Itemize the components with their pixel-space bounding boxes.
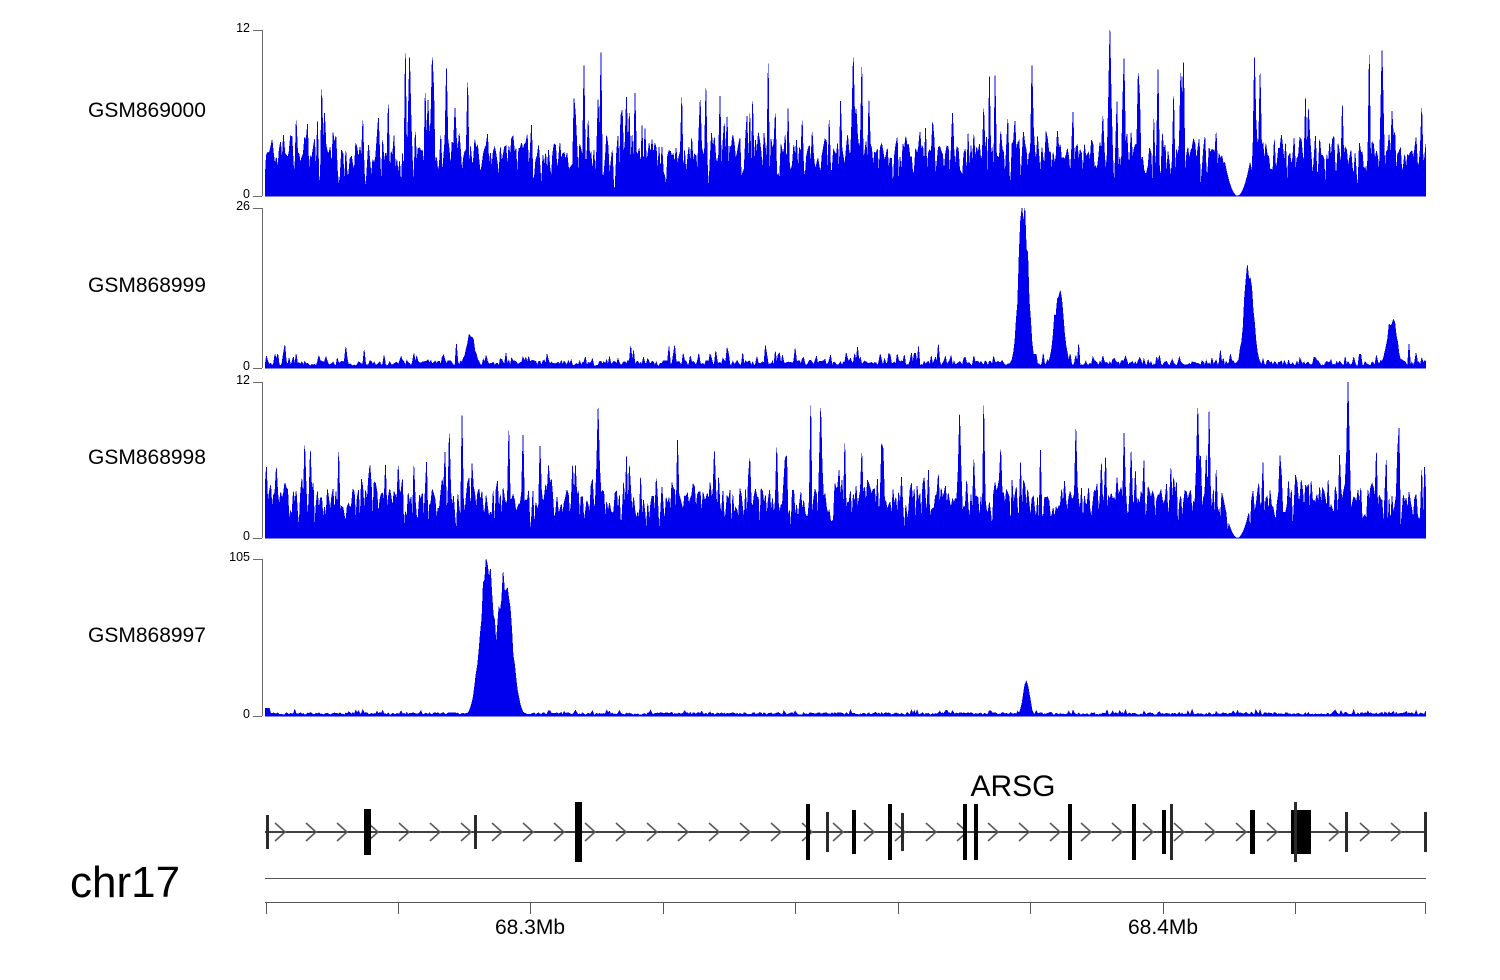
ruler-label: 68.3Mb bbox=[495, 916, 565, 940]
y-axis-tick-min bbox=[253, 368, 262, 369]
y-axis-tick-min bbox=[253, 716, 262, 717]
track-label-gsm869000: GSM869000 bbox=[88, 99, 206, 123]
ruler-tick bbox=[1030, 902, 1031, 914]
y-axis-max-label: 12 bbox=[195, 373, 250, 387]
y-axis-max-label: 12 bbox=[195, 21, 250, 35]
ruler-tick bbox=[795, 902, 796, 914]
ruler-tick bbox=[398, 902, 399, 914]
y-axis-line bbox=[262, 30, 263, 196]
y-axis-line bbox=[262, 559, 263, 716]
gene-model-svg bbox=[0, 770, 1500, 880]
y-axis-max-label: 105 bbox=[195, 550, 250, 564]
y-axis-tick-max bbox=[253, 559, 262, 560]
coverage-track: GSM869000120 bbox=[0, 30, 1500, 196]
ruler-tick bbox=[663, 902, 664, 914]
y-axis-line bbox=[262, 382, 263, 538]
gene-model-track: ARSG bbox=[0, 770, 1500, 880]
coverage-plot-area[interactable] bbox=[265, 30, 1426, 197]
coverage-track: GSM868998120 bbox=[0, 382, 1500, 538]
coverage-plot-area[interactable] bbox=[265, 559, 1426, 717]
ruler-tick bbox=[1425, 902, 1426, 914]
ruler-baseline bbox=[265, 878, 1426, 879]
y-axis-tick-min bbox=[253, 196, 262, 197]
coverage-track: GSM868999260 bbox=[0, 208, 1500, 368]
y-axis-tick-min bbox=[253, 538, 262, 539]
y-axis-min-label: 0 bbox=[195, 707, 250, 721]
y-axis-line bbox=[262, 208, 263, 368]
coverage-plot-area[interactable] bbox=[265, 208, 1426, 369]
y-axis-min-label: 0 bbox=[195, 529, 250, 543]
ruler-tick-axis bbox=[265, 902, 1426, 903]
y-axis-tick-max bbox=[253, 208, 262, 209]
y-axis-tick-max bbox=[253, 382, 262, 383]
y-axis-min-label: 0 bbox=[195, 359, 250, 373]
track-label-gsm868997: GSM868997 bbox=[88, 624, 206, 648]
track-label-gsm868999: GSM868999 bbox=[88, 274, 206, 298]
y-axis-tick-max bbox=[253, 30, 262, 31]
coverage-plot-area[interactable] bbox=[265, 382, 1426, 539]
ruler-tick bbox=[266, 902, 267, 914]
ruler-tick bbox=[898, 902, 899, 914]
ruler-tick bbox=[530, 902, 531, 914]
y-axis-max-label: 26 bbox=[195, 199, 250, 213]
track-label-gsm868998: GSM868998 bbox=[88, 446, 206, 470]
coordinate-ruler: 68.3Mb68.4Mb bbox=[0, 878, 1500, 958]
ruler-label: 68.4Mb bbox=[1128, 916, 1198, 940]
genome-browser: GSM869000120GSM868999260GSM868998120GSM8… bbox=[0, 0, 1500, 980]
coverage-track: GSM8689971050 bbox=[0, 559, 1500, 716]
ruler-tick bbox=[1295, 902, 1296, 914]
ruler-tick bbox=[1163, 902, 1164, 914]
